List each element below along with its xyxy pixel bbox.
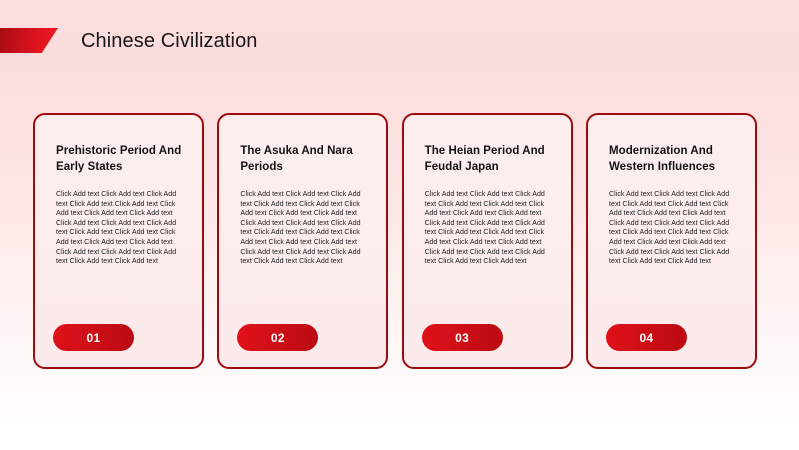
card-body-text: Click Add text Click Add text Click Add … [240, 190, 370, 267]
content-card-1[interactable]: Prehistoric Period And Early States Clic… [33, 113, 204, 369]
card-body-text: Click Add text Click Add text Click Add … [609, 190, 739, 267]
card-heading: The Asuka And Nara Periods [240, 144, 370, 175]
content-card-3[interactable]: The Heian Period And Feudal Japan Click … [402, 113, 573, 369]
card-badge-04[interactable]: 04 [606, 324, 687, 351]
header-accent-shape [0, 28, 58, 53]
card-heading: Modernization And Western Influences [609, 144, 739, 175]
card-heading: Prehistoric Period And Early States [56, 144, 186, 175]
card-heading: The Heian Period And Feudal Japan [425, 144, 555, 175]
content-card-2[interactable]: The Asuka And Nara Periods Click Add tex… [217, 113, 388, 369]
card-body-text: Click Add text Click Add text Click Add … [425, 190, 555, 267]
card-badge-01[interactable]: 01 [53, 324, 134, 351]
cards-row: Prehistoric Period And Early States Clic… [33, 113, 757, 369]
card-badge-03[interactable]: 03 [422, 324, 503, 351]
card-badge-02[interactable]: 02 [237, 324, 318, 351]
card-body-text: Click Add text Click Add text Click Add … [56, 190, 186, 267]
content-card-4[interactable]: Modernization And Western Influences Cli… [586, 113, 757, 369]
slide-header: Chinese Civilization [0, 0, 799, 82]
page-title: Chinese Civilization [81, 28, 258, 54]
